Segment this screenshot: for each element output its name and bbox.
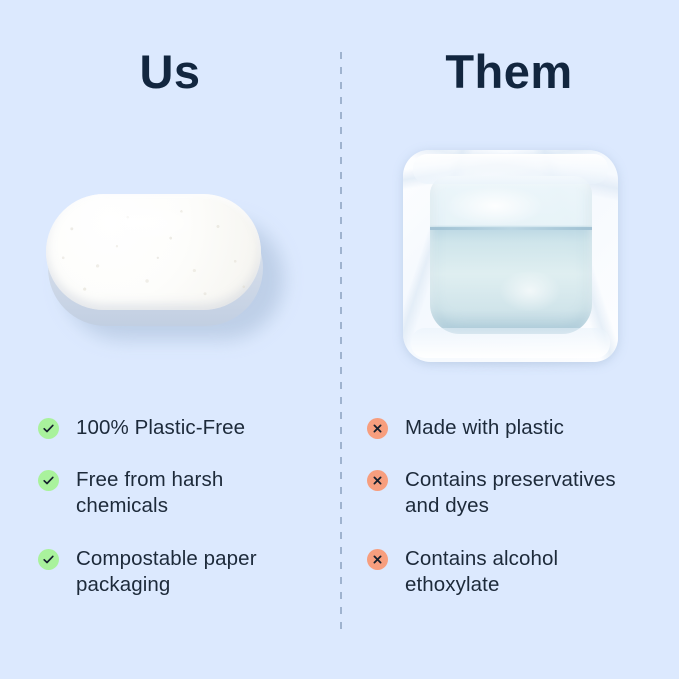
tablet-body xyxy=(46,194,261,310)
check-icon xyxy=(38,418,59,439)
list-item: Free from harsh chemicals xyxy=(38,467,378,519)
feature-list-them: Made with plastic Contains preservatives… xyxy=(339,415,679,624)
pod-highlight-top xyxy=(447,186,543,226)
feature-label: Contains alcohol ethoxylate xyxy=(405,546,645,598)
list-item: Contains preservatives and dyes xyxy=(367,467,679,519)
product-image-them xyxy=(339,140,679,390)
column-us: Us 100% Plastic-Free xyxy=(0,0,340,679)
check-icon xyxy=(38,470,59,491)
list-item: Compostable paper packaging xyxy=(38,546,378,598)
pod-seal-top xyxy=(413,154,608,184)
heading-them: Them xyxy=(339,48,679,95)
heading-us: Us xyxy=(0,48,340,95)
cross-icon xyxy=(367,418,388,439)
cross-icon xyxy=(367,549,388,570)
feature-label: Free from harsh chemicals xyxy=(76,467,316,519)
feature-label: Contains preservatives and dyes xyxy=(405,467,645,519)
comparison-infographic: Us 100% Plastic-Free xyxy=(0,0,679,679)
detergent-tablet-illustration xyxy=(42,188,272,338)
check-icon xyxy=(38,549,59,570)
list-item: Made with plastic xyxy=(367,415,679,441)
pod-highlight-bottom xyxy=(499,270,561,312)
tablet-highlight xyxy=(76,203,201,242)
feature-label: Made with plastic xyxy=(405,415,564,441)
feature-label: 100% Plastic-Free xyxy=(76,415,245,441)
cross-icon xyxy=(367,470,388,491)
list-item: Contains alcohol ethoxylate xyxy=(367,546,679,598)
column-them: Them Mad xyxy=(339,0,679,679)
feature-list-us: 100% Plastic-Free Free from harsh chemic… xyxy=(0,415,378,624)
pod-liquid-surface-line xyxy=(430,227,592,230)
laundry-pod-illustration xyxy=(403,150,618,378)
product-image-us xyxy=(0,140,340,390)
pod-seal-bottom xyxy=(411,328,610,358)
list-item: 100% Plastic-Free xyxy=(38,415,378,441)
feature-label: Compostable paper packaging xyxy=(76,546,316,598)
